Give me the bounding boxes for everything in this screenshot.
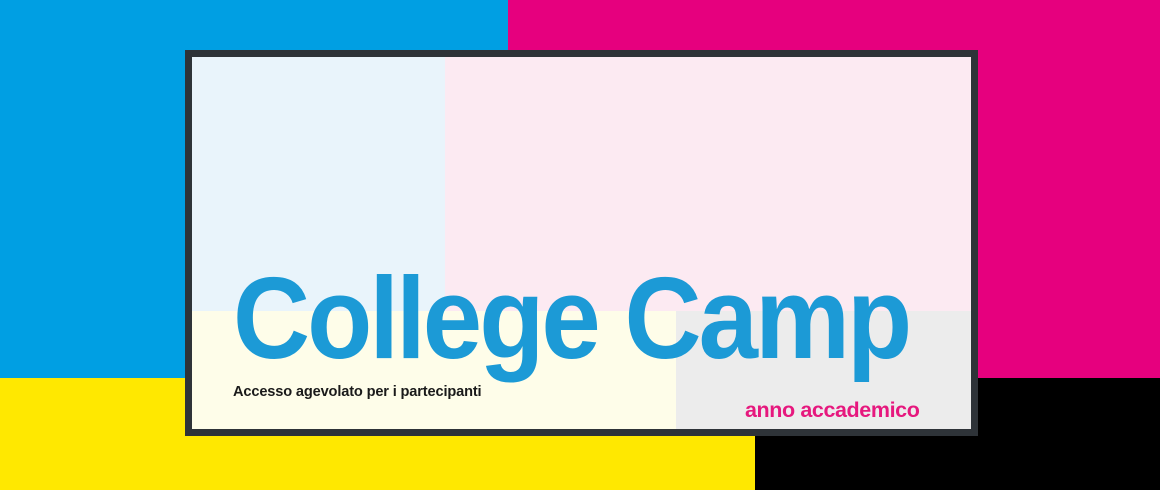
poster-card-inner: College Camp 2019 Accesso agevolato per … xyxy=(192,57,971,429)
poster-info-text: Accesso agevolato per i partecipanti al … xyxy=(233,344,542,429)
poster-canvas: College Camp 2019 Accesso agevolato per … xyxy=(0,0,1160,490)
info-line-1: Accesso agevolato per i partecipanti xyxy=(233,383,542,402)
poster-card: College Camp 2019 Accesso agevolato per … xyxy=(185,50,978,436)
academic-year-block: anno accademico 2019-2020 xyxy=(745,338,919,429)
academic-year-label: anno accademico xyxy=(745,396,919,425)
